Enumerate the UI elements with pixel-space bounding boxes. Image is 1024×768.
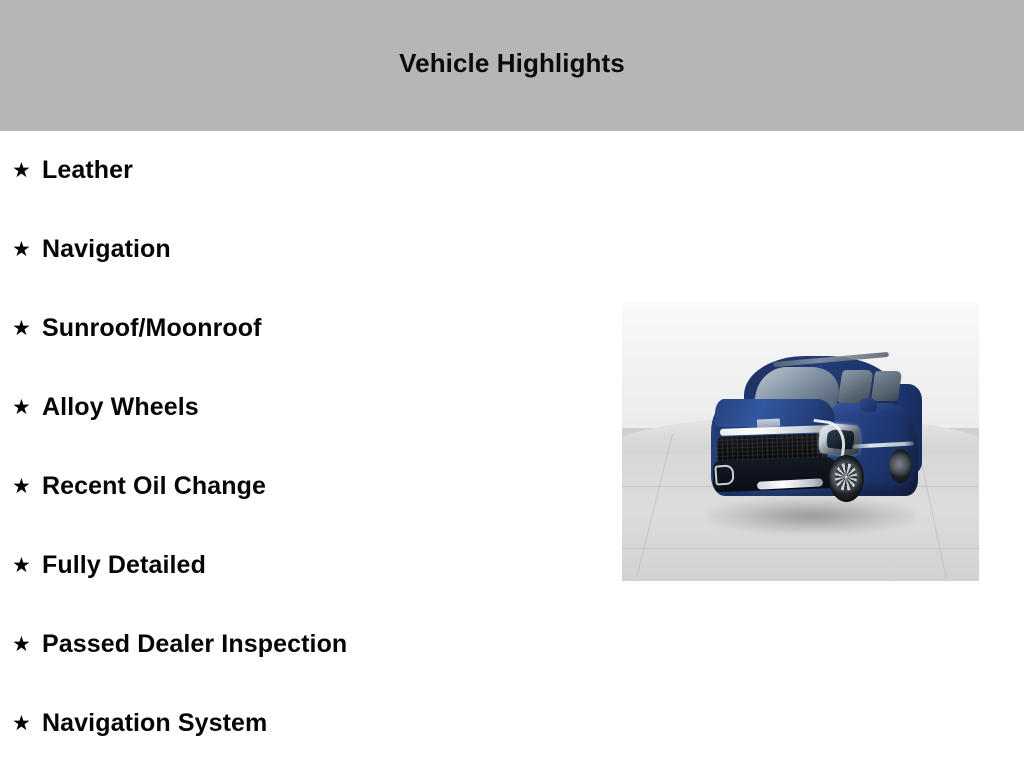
highlight-label: Fully Detailed xyxy=(42,553,206,578)
list-item: ★ Fully Detailed xyxy=(0,526,620,605)
star-icon: ★ xyxy=(12,555,42,576)
header-banner: Vehicle Highlights xyxy=(0,0,1024,131)
list-item: ★ Recent Oil Change xyxy=(0,447,620,526)
star-icon: ★ xyxy=(12,239,42,260)
vehicle-illustration xyxy=(711,356,918,512)
highlight-label: Navigation System xyxy=(42,711,267,736)
vehicle-highlights-page: Vehicle Highlights ★ Leather ★ Navigatio… xyxy=(0,0,1024,768)
highlight-label: Passed Dealer Inspection xyxy=(42,632,347,657)
star-icon: ★ xyxy=(12,713,42,734)
vehicle-photo xyxy=(622,303,979,581)
list-item: ★ Leather xyxy=(0,131,620,210)
list-item: ★ Sunroof/Moonroof xyxy=(0,289,620,368)
star-icon: ★ xyxy=(12,160,42,181)
vehicle-rear-window xyxy=(871,371,902,401)
list-item: ★ Navigation System xyxy=(0,684,620,763)
highlight-label: Navigation xyxy=(42,237,171,262)
star-icon: ★ xyxy=(12,397,42,418)
vehicle-side-mirror xyxy=(860,398,877,412)
highlight-label: Recent Oil Change xyxy=(42,474,266,499)
star-icon: ★ xyxy=(12,634,42,655)
highlight-label: Sunroof/Moonroof xyxy=(42,316,262,341)
vehicle-foglight-trim xyxy=(715,464,735,485)
kia-badge-icon xyxy=(757,418,780,427)
highlight-label: Leather xyxy=(42,158,133,183)
star-icon: ★ xyxy=(12,476,42,497)
highlight-label: Alloy Wheels xyxy=(42,395,199,420)
vehicle-highlights-list: ★ Leather ★ Navigation ★ Sunroof/Moonroo… xyxy=(0,131,620,763)
list-item: ★ Alloy Wheels xyxy=(0,368,620,447)
page-title: Vehicle Highlights xyxy=(399,50,625,76)
list-item: ★ Passed Dealer Inspection xyxy=(0,605,620,684)
star-icon: ★ xyxy=(12,318,42,339)
floor-seam xyxy=(622,548,979,549)
list-item: ★ Navigation xyxy=(0,210,620,289)
